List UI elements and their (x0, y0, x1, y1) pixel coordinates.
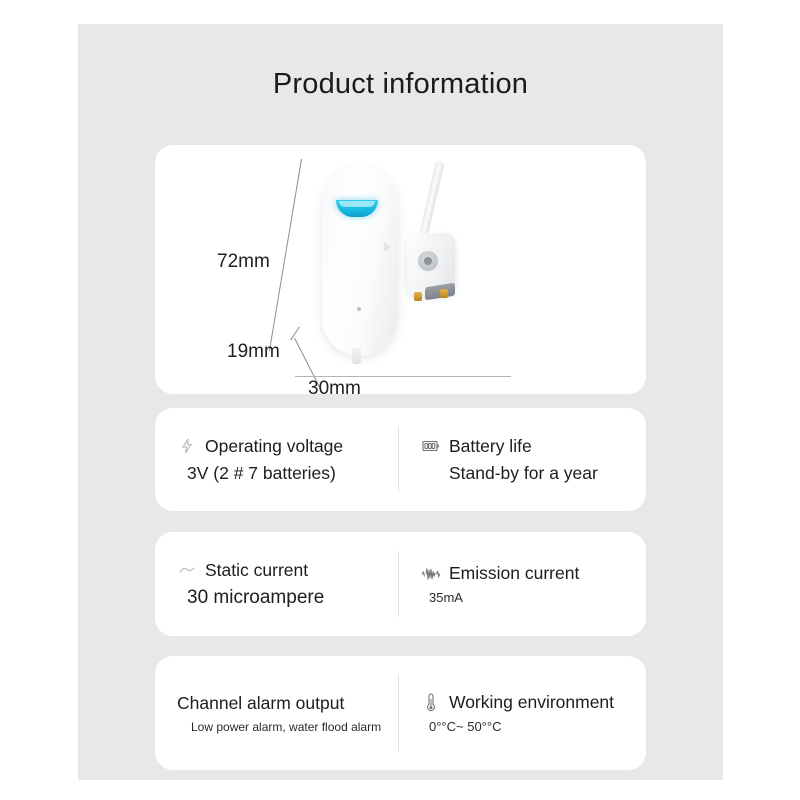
spec-battery-life: Battery life Stand-by for a year (399, 408, 646, 511)
spec-emission-current: Emission current 35mA (399, 532, 646, 636)
probe-pin-right (440, 289, 448, 298)
thermometer-icon (421, 693, 441, 713)
spec-value: 0°°C~ 50°°C (421, 719, 646, 734)
dimension-height-label: 72mm (217, 251, 270, 273)
dimension-depth-label: 19mm (227, 341, 280, 363)
probe-cable (419, 160, 445, 236)
spec-value: 30 microampere (177, 587, 399, 609)
battery-icon (421, 436, 441, 456)
sensor-device-icon (322, 160, 414, 356)
voltage-icon (177, 436, 197, 456)
product-information-panel: Product information 72mm 19mm 30mm (78, 24, 723, 780)
spec-operating-voltage: Operating voltage 3V (2 # 7 batteries) (155, 408, 399, 511)
spec-static-current: Static current 30 microampere (155, 532, 399, 636)
spec-label: Static current (205, 560, 308, 581)
spec-row-voltage-battery: Operating voltage 3V (2 # 7 batteries) (155, 408, 646, 511)
spec-label: Battery life (449, 436, 532, 457)
height-guide-line (269, 159, 302, 351)
probe-hole (424, 257, 432, 265)
water-probe-icon (407, 233, 471, 311)
spec-channel-alarm-output: Channel alarm output Low power alarm, wa… (155, 656, 399, 770)
product-illustration: 72mm 19mm 30mm (155, 145, 646, 394)
static-current-icon (177, 560, 197, 580)
spec-working-environment: Working environment 0°°C~ 50°°C (399, 656, 646, 770)
waveform-icon (421, 564, 441, 584)
spec-row-alarm-environment: Channel alarm output Low power alarm, wa… (155, 656, 646, 770)
spec-value: Stand-by for a year (421, 463, 646, 484)
device-front-face (322, 166, 398, 356)
spec-value: 3V (2 # 7 batteries) (177, 463, 399, 484)
spec-label: Working environment (449, 692, 614, 713)
width-guide-line (295, 376, 511, 377)
device-side-marker-icon (384, 242, 391, 252)
led-highlight (339, 201, 375, 207)
product-image-card: 72mm 19mm 30mm (155, 145, 646, 394)
spec-label: Channel alarm output (177, 693, 344, 714)
probe-pin-left (414, 292, 422, 301)
spec-row-current: Static current 30 microampere Emission c… (155, 532, 646, 636)
spec-value: 35mA (421, 590, 646, 605)
spec-label: Emission current (449, 563, 579, 584)
device-sensor-dot (357, 307, 361, 311)
device-cable-stub (352, 348, 361, 364)
spec-value: Low power alarm, water flood alarm (177, 720, 399, 734)
spec-label: Operating voltage (205, 436, 343, 457)
page-title: Product information (78, 68, 723, 101)
dimension-width-label: 30mm (308, 378, 361, 394)
